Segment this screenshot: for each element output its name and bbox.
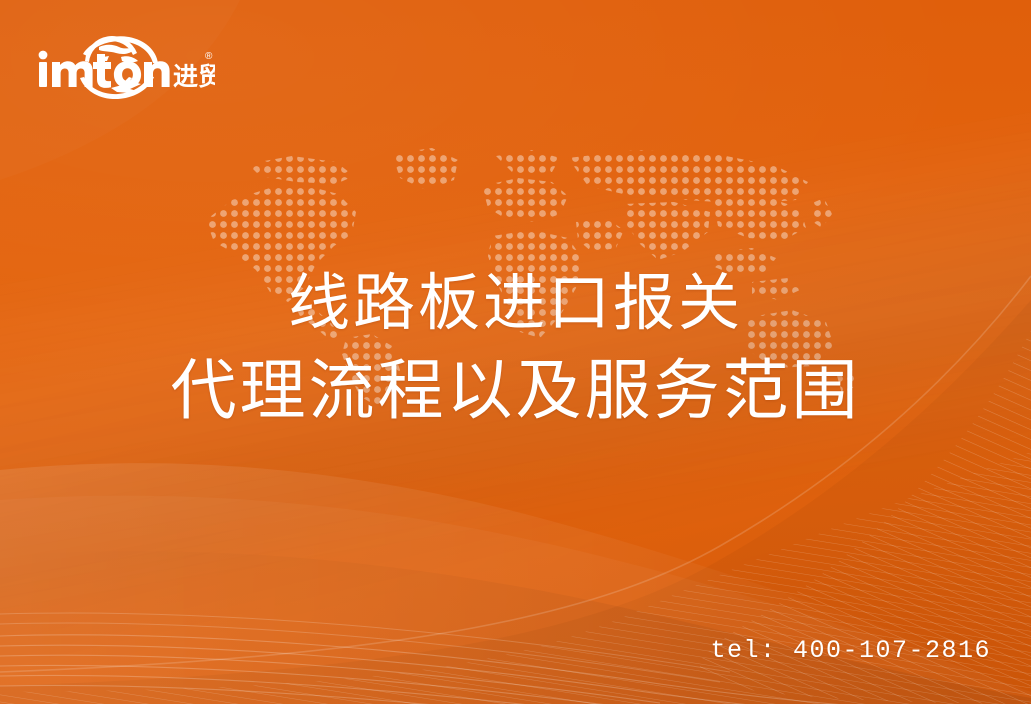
promo-banner: 进贸通 ® 线路板进口报关 代理流程以及服务范围 tel: 400-107-28…: [0, 0, 1031, 704]
dotted-world-map: [196, 142, 856, 410]
logo-trademark-symbol: ®: [205, 51, 213, 62]
logo-wordmark: [39, 51, 170, 88]
logo-chinese-name: 进贸通: [173, 63, 215, 91]
telephone-text: tel: 400-107-2816: [710, 636, 991, 665]
brand-logo[interactable]: 进贸通 ®: [37, 33, 215, 99]
